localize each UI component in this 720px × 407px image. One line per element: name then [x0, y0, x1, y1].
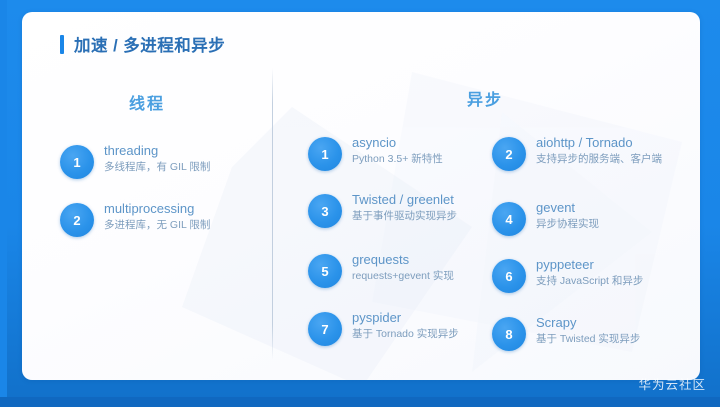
item-text-group: aiohttp / Tornado 支持异步的服务端、客户端 — [536, 135, 662, 165]
list-item[interactable]: 5 grequests requests+gevent 实现 — [308, 252, 454, 288]
item-title: multiprocessing — [104, 202, 210, 216]
item-number-badge: 3 — [308, 194, 342, 228]
list-item[interactable]: 1 asyncio Python 3.5+ 新特性 — [308, 135, 443, 171]
item-description: Python 3.5+ 新特性 — [352, 153, 443, 165]
header-accent-bar — [60, 35, 64, 54]
list-item[interactable]: 6 pyppeteer 支持 JavaScript 和异步 — [492, 257, 643, 293]
item-number-badge: 1 — [308, 137, 342, 171]
item-number-badge: 1 — [60, 145, 94, 179]
item-title: pyspider — [352, 311, 459, 325]
item-number-badge: 2 — [60, 203, 94, 237]
list-item[interactable]: 2 multiprocessing 多进程库，无 GIL 限制 — [60, 201, 210, 237]
async-column-heading: 异步 — [467, 86, 503, 110]
item-number-badge: 6 — [492, 259, 526, 293]
item-title: Scrapy — [536, 316, 640, 330]
item-text-group: Scrapy 基于 Twisted 实现异步 — [536, 315, 640, 345]
watermark: 华为云社区 — [638, 374, 706, 393]
item-text-group: gevent 异步协程实现 — [536, 200, 599, 230]
item-text-group: grequests requests+gevent 实现 — [352, 252, 454, 282]
item-text-group: pyppeteer 支持 JavaScript 和异步 — [536, 257, 643, 287]
item-text-group: asyncio Python 3.5+ 新特性 — [352, 135, 443, 165]
column-divider — [272, 68, 273, 360]
item-title: gevent — [536, 201, 599, 215]
item-title: asyncio — [352, 136, 443, 150]
item-description: 多进程库，无 GIL 限制 — [104, 219, 210, 231]
item-title: pyppeteer — [536, 258, 643, 272]
slide-root: 加速 / 多进程和异步 线程 异步 1 threading 多线程库，有 GIL… — [0, 0, 720, 407]
threads-column-heading: 线程 — [129, 90, 165, 114]
list-item[interactable]: 1 threading 多线程库，有 GIL 限制 — [60, 143, 210, 179]
list-item[interactable]: 3 Twisted / greenlet 基于事件驱动实现异步 — [308, 192, 457, 228]
item-number-badge: 8 — [492, 317, 526, 351]
item-text-group: Twisted / greenlet 基于事件驱动实现异步 — [352, 192, 457, 222]
item-text-group: multiprocessing 多进程库，无 GIL 限制 — [104, 201, 210, 231]
slide-header: 加速 / 多进程和异步 — [60, 32, 225, 56]
item-text-group: pyspider 基于 Tornado 实现异步 — [352, 310, 459, 340]
item-title: Twisted / greenlet — [352, 193, 457, 207]
item-title: aiohttp / Tornado — [536, 136, 662, 150]
content-card: 加速 / 多进程和异步 线程 异步 1 threading 多线程库，有 GIL… — [22, 12, 700, 380]
item-number-badge: 4 — [492, 202, 526, 236]
list-item[interactable]: 7 pyspider 基于 Tornado 实现异步 — [308, 310, 459, 346]
item-title: threading — [104, 144, 210, 158]
item-number-badge: 7 — [308, 312, 342, 346]
item-text-group: threading 多线程库，有 GIL 限制 — [104, 143, 210, 173]
list-item[interactable]: 2 aiohttp / Tornado 支持异步的服务端、客户端 — [492, 135, 662, 171]
page-title: 加速 / 多进程和异步 — [74, 32, 225, 56]
item-description: 多线程库，有 GIL 限制 — [104, 161, 210, 173]
item-title: grequests — [352, 253, 454, 267]
item-description: 异步协程实现 — [536, 218, 599, 230]
item-description: 支持异步的服务端、客户端 — [536, 153, 662, 165]
item-description: 基于事件驱动实现异步 — [352, 210, 457, 222]
frame-bottom-edge — [0, 397, 720, 407]
item-description: requests+gevent 实现 — [352, 270, 454, 282]
list-item[interactable]: 8 Scrapy 基于 Twisted 实现异步 — [492, 315, 640, 351]
item-description: 支持 JavaScript 和异步 — [536, 275, 643, 287]
frame-left-edge — [0, 0, 7, 407]
item-number-badge: 2 — [492, 137, 526, 171]
item-description: 基于 Twisted 实现异步 — [536, 333, 640, 345]
item-description: 基于 Tornado 实现异步 — [352, 328, 459, 340]
list-item[interactable]: 4 gevent 异步协程实现 — [492, 200, 599, 236]
item-number-badge: 5 — [308, 254, 342, 288]
